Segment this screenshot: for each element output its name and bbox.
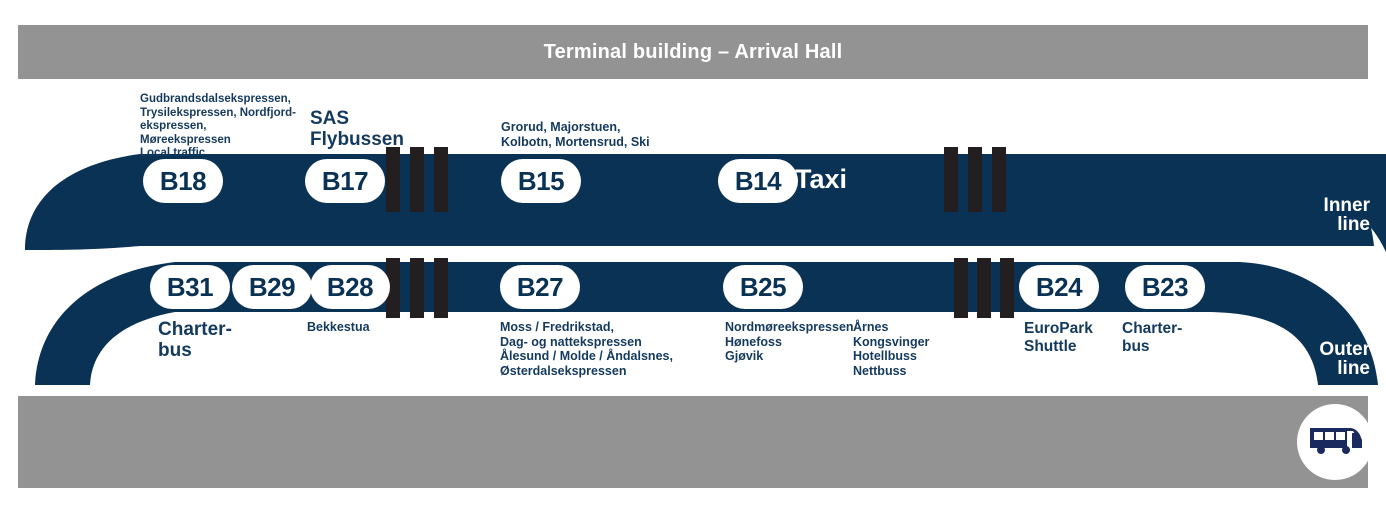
stop-badge-b28[interactable]: B28 (310, 265, 390, 309)
inner-line-label: Inner line (1250, 196, 1370, 234)
outer-line-label: Outer line (1240, 340, 1370, 378)
stop-badge-b25[interactable]: B25 (723, 265, 803, 309)
caption-b17-sas-flybussen: SAS Flybussen (310, 108, 420, 150)
inner-line-band (25, 154, 1386, 252)
stop-badge-b23[interactable]: B23 (1125, 265, 1205, 309)
caption-b28-bekkestua: Bekkestua (307, 320, 417, 335)
bottom-bar (18, 396, 1368, 488)
barrier-bars-inner-right (944, 147, 1006, 212)
stop-badge-b24[interactable]: B24 (1019, 265, 1099, 309)
stop-badge-b31[interactable]: B31 (150, 265, 230, 309)
caption-b24-europark-shuttle: EuroPark Shuttle (1024, 320, 1134, 356)
terminal-map: Terminal building – Arrival Hall (0, 0, 1386, 517)
stop-badge-b29[interactable]: B29 (232, 265, 312, 309)
caption-b27-destinations: Moss / Fredrikstad, Dag- og nattekspress… (500, 320, 700, 378)
stop-badge-b17[interactable]: B17 (305, 159, 385, 203)
caption-b23-charterbus: Charter- bus (1122, 320, 1222, 356)
stop-badge-b14[interactable]: B14 (718, 159, 798, 203)
bus-icon (1308, 425, 1362, 459)
caption-b25-destinations-right: Årnes Kongsvinger Hotellbuss Nettbuss (853, 320, 963, 378)
caption-b25-destinations-left: Nordmøreekspressen Hønefoss Gjøvik (725, 320, 865, 364)
taxi-label: Taxi (795, 164, 847, 195)
caption-b31-charterbus: Charter- bus (158, 319, 288, 361)
caption-b15-destinations: Grorud, Majorstuen, Kolbotn, Mortensrud,… (501, 120, 681, 149)
stop-badge-b15[interactable]: B15 (501, 159, 581, 203)
bus-icon-badge (1297, 404, 1373, 480)
stop-badge-b27[interactable]: B27 (500, 265, 580, 309)
caption-b18-destinations: Gudbrandsdalsekspressen, Trysilekspresse… (140, 93, 300, 161)
stop-badge-b18[interactable]: B18 (143, 159, 223, 203)
barrier-bars-inner-left (386, 147, 448, 212)
barrier-bars-outer-right (954, 258, 1014, 318)
barrier-bars-outer-left (386, 258, 448, 318)
